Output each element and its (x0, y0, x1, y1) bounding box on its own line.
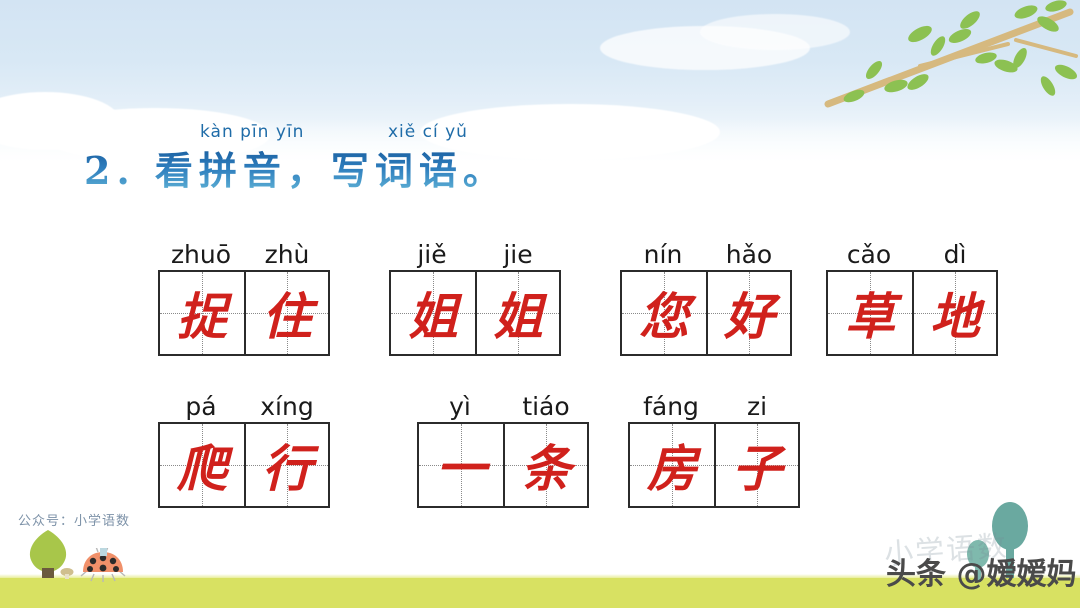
word-exercise-zhuo-zhu: zhuōzhù捉住 (158, 240, 330, 356)
tianzige-cell[interactable]: 子 (714, 424, 798, 506)
tianzige-cell[interactable]: 爬 (160, 424, 244, 506)
watermark-right: 头条 @嫒嫒妈 (886, 549, 1076, 593)
pinyin-row: nínhǎo (620, 240, 792, 270)
tianzige-cell[interactable]: 条 (503, 424, 587, 506)
pinyin-row: fángzi (628, 392, 800, 422)
answer-character: 房 (630, 424, 714, 506)
pinyin-syllable: zhù (244, 240, 330, 269)
tianzige-cell[interactable]: 草 (828, 272, 912, 354)
exercise-items: zhuōzhù捉住jiějie姐姐nínhǎo您好cǎodì草地páxíng爬行… (0, 0, 1080, 608)
tianzige-cell[interactable]: 一 (419, 424, 503, 506)
tianzige-box[interactable]: 草地 (826, 270, 998, 356)
pinyin-syllable: cǎo (826, 240, 912, 269)
answer-character: 好 (708, 272, 790, 354)
pinyin-syllable: zhuō (158, 240, 244, 269)
word-exercise-pa-xing: páxíng爬行 (158, 392, 330, 508)
watermark-left: 公众号：小学语数 (18, 510, 130, 529)
tianzige-cell[interactable]: 好 (706, 272, 790, 354)
answer-character: 捉 (160, 272, 244, 354)
pinyin-row: cǎodì (826, 240, 998, 270)
answer-character: 条 (505, 424, 587, 506)
tianzige-box[interactable]: 爬行 (158, 422, 330, 508)
pinyin-row: yìtiáo (417, 392, 589, 422)
pinyin-syllable: xíng (244, 392, 330, 421)
answer-character: 草 (828, 272, 912, 354)
ladybug-icon (78, 548, 128, 582)
pinyin-row: páxíng (158, 392, 330, 422)
answer-character: 地 (914, 272, 996, 354)
pinyin-syllable: jie (475, 240, 561, 269)
pinyin-syllable: zi (714, 392, 800, 421)
answer-character: 姐 (391, 272, 475, 354)
tianzige-box[interactable]: 一条 (417, 422, 589, 508)
tianzige-box[interactable]: 姐姐 (389, 270, 561, 356)
pinyin-row: jiějie (389, 240, 561, 270)
tianzige-cell[interactable]: 姐 (391, 272, 475, 354)
answer-character: 住 (246, 272, 328, 354)
pinyin-syllable: hǎo (706, 240, 792, 269)
word-exercise-cao-di: cǎodì草地 (826, 240, 998, 356)
word-exercise-nin-hao: nínhǎo您好 (620, 240, 792, 356)
pinyin-syllable: tiáo (503, 392, 589, 421)
pinyin-syllable: jiě (389, 240, 475, 269)
tianzige-cell[interactable]: 地 (912, 272, 996, 354)
pinyin-syllable: nín (620, 240, 706, 269)
pinyin-syllable: yì (417, 392, 503, 421)
answer-character: 一 (419, 424, 503, 506)
tianzige-cell[interactable]: 住 (244, 272, 328, 354)
tianzige-box[interactable]: 房子 (628, 422, 800, 508)
pinyin-syllable: fáng (628, 392, 714, 421)
mushroom-icon (60, 567, 74, 579)
tianzige-box[interactable]: 捉住 (158, 270, 330, 356)
tianzige-cell[interactable]: 姐 (475, 272, 559, 354)
tianzige-cell[interactable]: 行 (244, 424, 328, 506)
answer-character: 爬 (160, 424, 244, 506)
ladybug-decoration (78, 548, 128, 582)
word-exercise-yi-tiao: yìtiáo一条 (417, 392, 589, 508)
pinyin-syllable: pá (158, 392, 244, 421)
answer-character: 行 (246, 424, 328, 506)
pinyin-syllable: dì (912, 240, 998, 269)
tianzige-cell[interactable]: 房 (630, 424, 714, 506)
worksheet-slide: kàn pīn yīn xiě cí yǔ 2. 看拼音，写词语。 zhuōzh… (0, 0, 1080, 608)
answer-character: 子 (716, 424, 798, 506)
word-exercise-jie-jie: jiějie姐姐 (389, 240, 561, 356)
tianzige-box[interactable]: 您好 (620, 270, 792, 356)
mushroom-decoration (60, 566, 74, 578)
answer-character: 您 (622, 272, 706, 354)
tianzige-cell[interactable]: 捉 (160, 272, 244, 354)
word-exercise-fang-zi: fángzi房子 (628, 392, 800, 508)
pinyin-row: zhuōzhù (158, 240, 330, 270)
tianzige-cell[interactable]: 您 (622, 272, 706, 354)
answer-character: 姐 (477, 272, 559, 354)
